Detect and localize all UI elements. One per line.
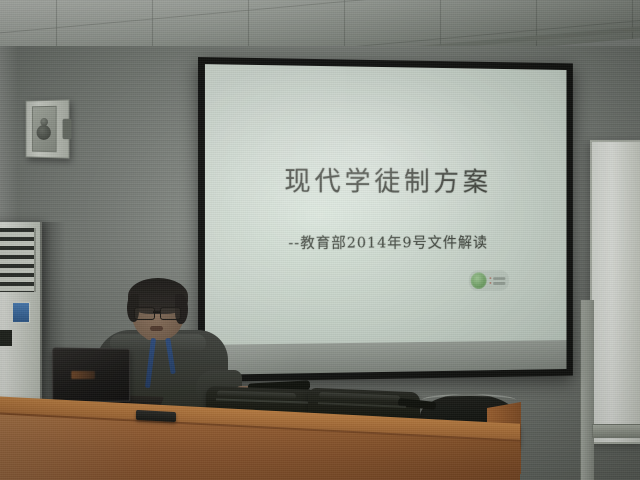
slide-logo-line bbox=[493, 281, 505, 284]
projection-screen[interactable]: 现代学徒制方案 --教育部2014年9号文件解读 bbox=[205, 64, 566, 375]
slide-logo-text-block bbox=[489, 277, 505, 285]
laptop-brand-logo bbox=[71, 371, 95, 379]
phone-on-desk[interactable] bbox=[136, 410, 176, 422]
slide-logo-line bbox=[493, 277, 505, 280]
projector-hotspot bbox=[205, 64, 566, 345]
air-conditioner-vents bbox=[0, 228, 36, 292]
laptop-screen-lid[interactable] bbox=[52, 347, 130, 402]
glasses-bridge bbox=[153, 311, 160, 313]
whiteboard bbox=[590, 140, 640, 444]
glasses-lens-left bbox=[134, 307, 155, 320]
speaker-woofer bbox=[37, 124, 51, 139]
whiteboard-marker-tray bbox=[592, 424, 640, 438]
slide-logo-bullet-icon bbox=[489, 277, 491, 279]
presenter-glasses bbox=[134, 307, 182, 318]
slide-title: 现代学徒制方案 bbox=[205, 159, 566, 199]
projected-slide-surface: 现代学徒制方案 --教育部2014年9号文件解读 bbox=[205, 64, 566, 345]
slide-logo bbox=[469, 270, 509, 291]
classroom-photo-scene: 现代学徒制方案 --教育部2014年9号文件解读 bbox=[0, 0, 640, 480]
speaker-mount-bracket bbox=[63, 119, 72, 139]
speaker-grille bbox=[32, 106, 57, 152]
slide-subtitle: --教育部2014年9号文件解读 bbox=[205, 232, 566, 253]
air-conditioner-label bbox=[12, 302, 30, 323]
slide-logo-row bbox=[489, 281, 505, 284]
chair-chrome-trim bbox=[422, 394, 516, 406]
presenter-mouth bbox=[150, 326, 163, 331]
projection-screen-frame: 现代学徒制方案 --教育部2014年9号文件解读 bbox=[198, 57, 573, 382]
slide-logo-bullet-icon bbox=[489, 282, 491, 284]
whiteboard-support-post bbox=[580, 300, 594, 480]
glasses-lens-right bbox=[160, 307, 181, 320]
screen-lower-band bbox=[205, 340, 566, 375]
slide-logo-row bbox=[489, 277, 505, 280]
wall-speaker bbox=[25, 99, 69, 158]
air-conditioner-intake bbox=[0, 330, 12, 346]
bag-highlight bbox=[319, 392, 400, 402]
green-circle-logo-icon bbox=[471, 272, 487, 289]
